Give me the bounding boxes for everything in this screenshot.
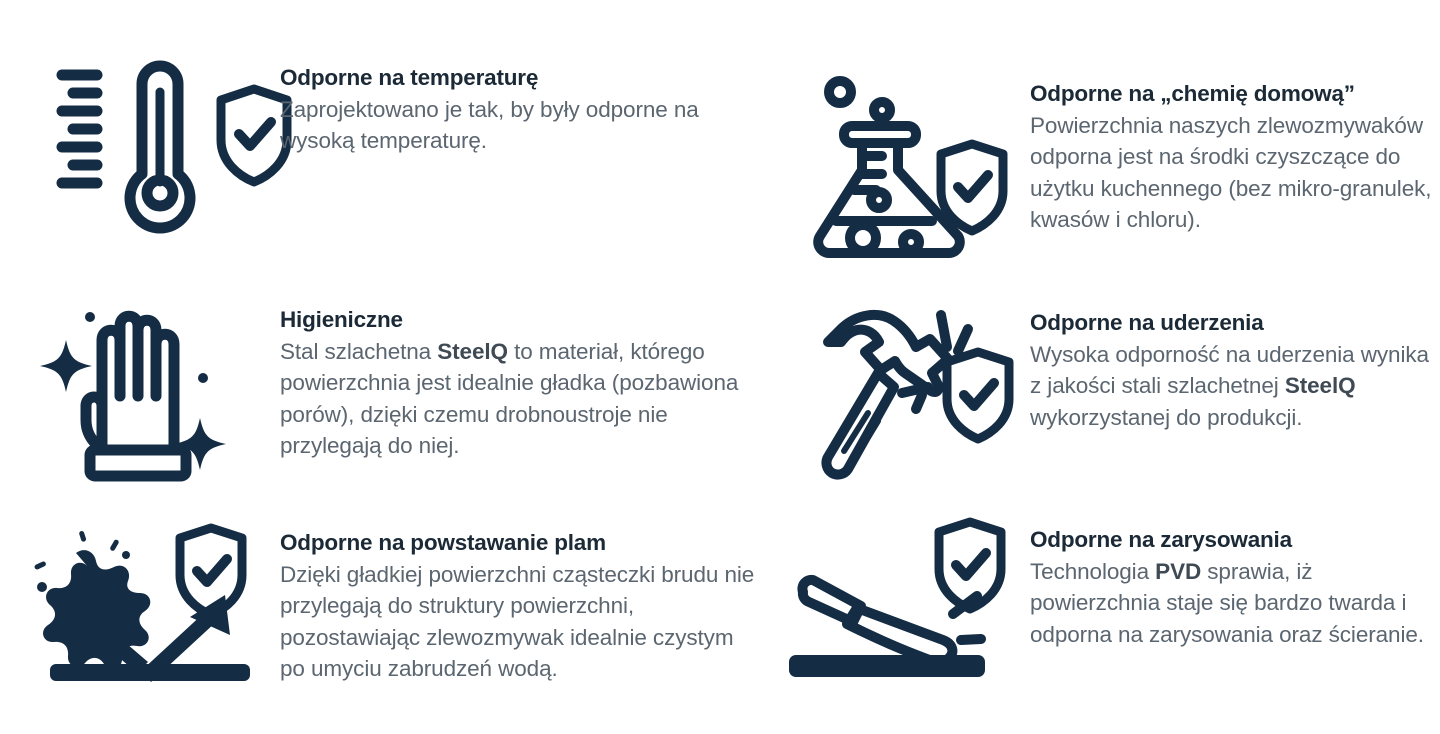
- feature-title: Odporne na temperaturę: [280, 62, 770, 94]
- feature-impact: Odporne na uderzenia Wysoka odporność na…: [790, 305, 1440, 485]
- feature-text: Odporne na „chemię domową” Powierzchnia …: [1030, 78, 1440, 236]
- hammer-shield-icon: [790, 305, 1030, 485]
- feature-stains: Odporne na powstawanie plam Dzięki gładk…: [0, 525, 760, 685]
- flask-shield-icon: [790, 78, 1030, 268]
- feature-text: Odporne na uderzenia Wysoka odporność na…: [1030, 307, 1440, 433]
- feature-body: Dzięki gładkiej powierzchni cząsteczki b…: [280, 559, 760, 685]
- feature-title: Odporne na uderzenia: [1030, 307, 1440, 339]
- feature-hygienic: Higieniczne Stal szlachetna SteelQ to ma…: [10, 300, 760, 490]
- feature-text: Odporne na powstawanie plam Dzięki gładk…: [280, 527, 760, 685]
- feature-body: Stal szlachetna SteelQ to materiał, któr…: [280, 336, 760, 462]
- feature-title: Odporne na zarysowania: [1030, 524, 1440, 556]
- thermometer-shield-icon: [30, 62, 280, 227]
- feature-title: Higieniczne: [280, 304, 760, 336]
- feature-title: Odporne na „chemię domową”: [1030, 78, 1440, 110]
- feature-body: Zaprojektowano je tak, by były odporne n…: [280, 94, 770, 157]
- feature-scratches: Odporne na zarysowania Technologia PVD s…: [760, 520, 1440, 685]
- gloved-hand-sparkle-icon: [10, 300, 280, 490]
- feature-title: Odporne na powstawanie plam: [280, 527, 760, 559]
- knife-surface-shield-icon: [760, 520, 1030, 685]
- feature-text: Odporne na temperaturę Zaprojektowano je…: [280, 62, 770, 157]
- feature-household-chemicals: Odporne na „chemię domową” Powierzchnia …: [790, 78, 1440, 268]
- stain-repel-shield-icon: [0, 525, 280, 685]
- feature-body: Technologia PVD sprawia, iż powierzchnia…: [1030, 556, 1440, 651]
- feature-temperature: Odporne na temperaturę Zaprojektowano je…: [30, 62, 770, 227]
- feature-body: Powierzchnia naszych zlewozmywaków odpor…: [1030, 110, 1440, 236]
- feature-text: Higieniczne Stal szlachetna SteelQ to ma…: [280, 304, 760, 462]
- features-grid: Odporne na temperaturę Zaprojektowano je…: [0, 0, 1440, 734]
- feature-body: Wysoka odporność na uderzenia wynika z j…: [1030, 339, 1440, 434]
- feature-text: Odporne na zarysowania Technologia PVD s…: [1030, 524, 1440, 650]
